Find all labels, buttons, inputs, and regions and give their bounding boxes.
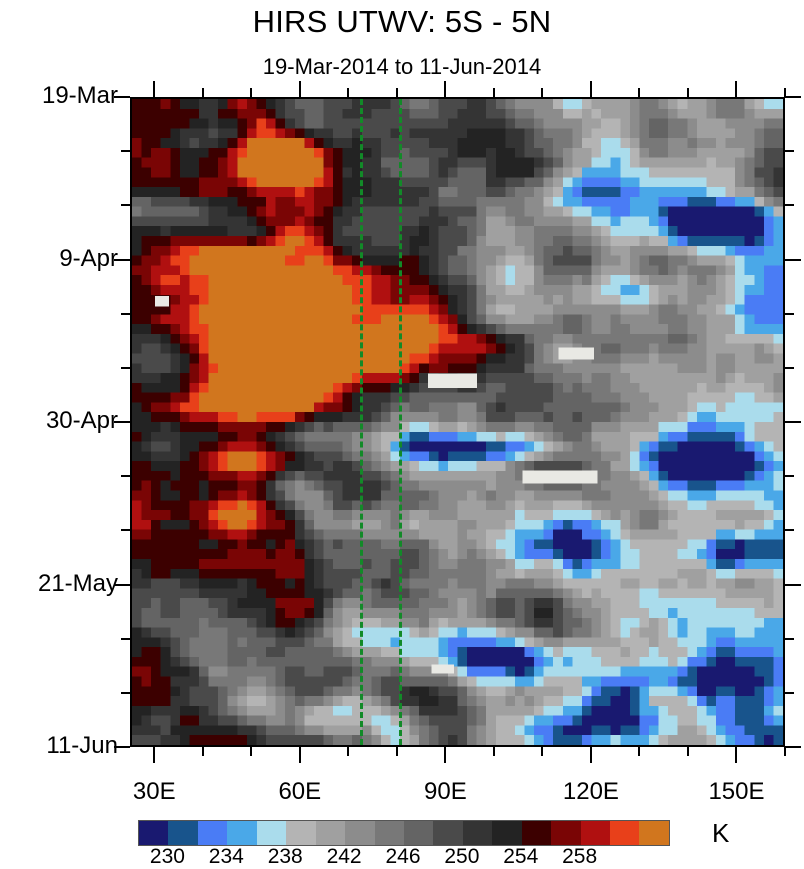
- axis-tick: [687, 747, 689, 756]
- page-subtitle: 19-Mar-2014 to 11-Jun-2014: [0, 54, 804, 80]
- colorbar-swatch: [227, 821, 256, 845]
- axis-tick: [121, 367, 130, 369]
- axis-tick: [785, 746, 801, 748]
- axis-tick: [590, 747, 592, 763]
- axis-tick: [202, 88, 204, 97]
- annotation-vline-80e: [399, 99, 402, 745]
- colorbar-swatch: [257, 821, 286, 845]
- axis-tick: [785, 421, 801, 423]
- colorbar-swatch: [316, 821, 345, 845]
- axis-tick: [784, 747, 786, 756]
- axis-tick: [785, 367, 794, 369]
- x-axis-label: 150E: [676, 778, 796, 806]
- axis-tick: [121, 204, 130, 206]
- colorbar: [138, 820, 670, 846]
- axis-tick: [785, 692, 794, 694]
- axis-tick: [121, 529, 130, 531]
- axis-tick: [785, 638, 794, 640]
- y-axis-label: 21-May: [0, 570, 118, 598]
- colorbar-swatch: [168, 821, 197, 845]
- x-axis-label: 60E: [240, 778, 360, 806]
- colorbar-swatch: [139, 821, 168, 845]
- contour-field: [132, 99, 783, 745]
- annotation-vline-72e: [360, 99, 363, 745]
- page-title: HIRS UTWV: 5S - 5N: [0, 4, 804, 40]
- axis-tick: [121, 638, 130, 640]
- colorbar-swatch: [581, 821, 610, 845]
- colorbar-swatch: [286, 821, 315, 845]
- axis-tick: [541, 747, 543, 756]
- axis-tick: [785, 584, 801, 586]
- colorbar-swatch: [492, 821, 521, 845]
- colorbar-unit-label: K: [712, 818, 729, 849]
- axis-tick: [785, 313, 794, 315]
- axis-tick: [785, 529, 794, 531]
- colorbar-swatch: [375, 821, 404, 845]
- axis-tick: [444, 81, 446, 97]
- axis-tick: [396, 88, 398, 97]
- axis-tick: [121, 692, 130, 694]
- hovmoller-plot: [130, 97, 785, 747]
- axis-tick: [638, 88, 640, 97]
- axis-tick: [687, 88, 689, 97]
- colorbar-swatch: [404, 821, 433, 845]
- colorbar-swatch: [522, 821, 551, 845]
- x-axis-label: 90E: [385, 778, 505, 806]
- colorbar-tick-label: 258: [545, 845, 615, 869]
- axis-tick: [785, 150, 794, 152]
- x-axis-label: 120E: [531, 778, 651, 806]
- colorbar-swatch: [551, 821, 580, 845]
- axis-tick: [396, 747, 398, 756]
- colorbar-swatch: [610, 821, 639, 845]
- axis-tick: [785, 259, 801, 261]
- colorbar-swatch: [639, 821, 668, 845]
- y-axis-label: 30-Apr: [0, 407, 118, 435]
- colorbar-swatch: [198, 821, 227, 845]
- axis-tick: [493, 747, 495, 756]
- colorbar-swatch: [463, 821, 492, 845]
- axis-tick: [153, 747, 155, 763]
- y-axis-label: 19-Mar: [0, 82, 118, 110]
- axis-tick: [785, 96, 801, 98]
- axis-tick: [121, 475, 130, 477]
- axis-tick: [590, 81, 592, 97]
- x-axis-label: 30E: [94, 778, 214, 806]
- colorbar-swatch: [345, 821, 374, 845]
- axis-tick: [735, 747, 737, 763]
- axis-tick: [444, 747, 446, 763]
- y-axis-label: 11-Jun: [0, 732, 118, 760]
- axis-tick: [347, 88, 349, 97]
- axis-tick: [735, 81, 737, 97]
- axis-tick: [299, 81, 301, 97]
- axis-tick: [785, 475, 794, 477]
- axis-tick: [299, 747, 301, 763]
- axis-tick: [541, 88, 543, 97]
- axis-tick: [250, 88, 252, 97]
- axis-tick: [493, 88, 495, 97]
- axis-tick: [638, 747, 640, 756]
- axis-tick: [121, 313, 130, 315]
- axis-tick: [785, 204, 794, 206]
- y-axis-label: 9-Apr: [0, 245, 118, 273]
- axis-tick: [250, 747, 252, 756]
- axis-tick: [347, 747, 349, 756]
- colorbar-swatch: [433, 821, 462, 845]
- axis-tick: [202, 747, 204, 756]
- axis-tick: [121, 150, 130, 152]
- axis-tick: [153, 81, 155, 97]
